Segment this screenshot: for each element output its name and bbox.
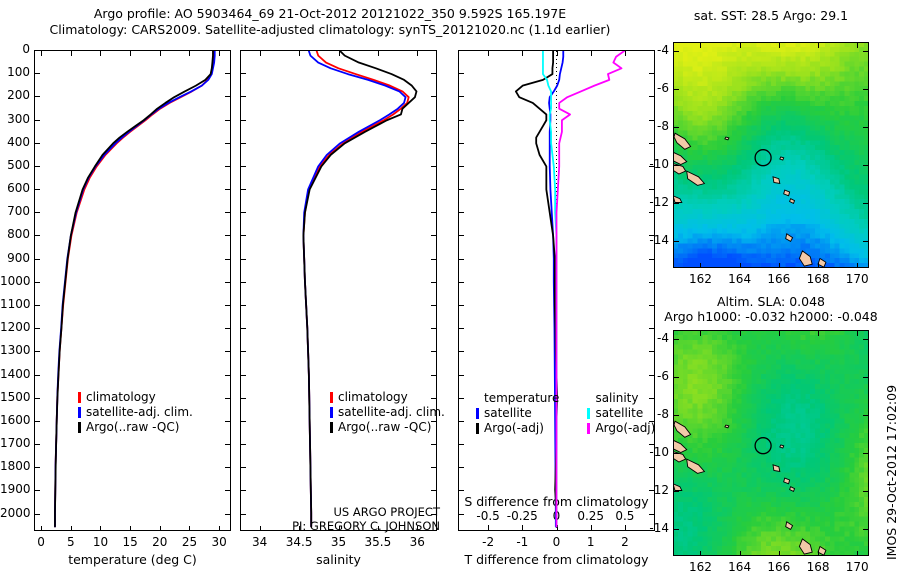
map-lat-label: -4 [631, 331, 669, 345]
map-title-line-1: Altim. SLA: 0.048 [633, 294, 900, 309]
x-axis-label: temperature (deg C) [34, 552, 231, 567]
legend-swatch [587, 423, 590, 434]
title-line-2: Climatology: CARS2009. Satellite-adjuste… [50, 22, 611, 37]
map-lat-label: -6 [631, 369, 669, 383]
depth-tick-label: 300 [0, 112, 30, 126]
map-lon-tick-top [779, 331, 780, 336]
depth-tick-label: 1200 [0, 320, 30, 334]
map-lon-tick [779, 551, 780, 556]
legend-salinity: climatologysatellite-adj. clim.Argo(..ra… [330, 390, 445, 435]
legend-swatch [330, 407, 333, 418]
map-lat-tick-right [863, 339, 868, 340]
legend-swatch [476, 423, 479, 434]
map-lat-tick-right [863, 491, 868, 492]
map-lon-tick [740, 263, 741, 268]
map-lon-tick-top [857, 43, 858, 48]
map-title-line-2: Argo h1000: -0.032 h2000: -0.048 [633, 309, 900, 324]
map-lon-tick-top [857, 331, 858, 336]
depth-tick-label: 1900 [0, 482, 30, 496]
map-lat-tick [674, 453, 679, 454]
title-line-1: Argo profile: AO 5903464_69 21-Oct-2012 … [94, 6, 566, 21]
legend-swatch [78, 392, 81, 403]
legend-label: Argo(-adj) [484, 421, 544, 436]
depth-tick-label: 200 [0, 88, 30, 102]
depth-tick-label: 700 [0, 204, 30, 218]
depth-tick-label: 100 [0, 65, 30, 79]
legend-swatch [476, 408, 479, 419]
map-title-sla-map: Altim. SLA: 0.048Argo h1000: -0.032 h200… [633, 294, 900, 324]
t-tick-label: 2 [600, 535, 650, 549]
map-lon-tick [700, 551, 701, 556]
depth-tick-label: 1600 [0, 413, 30, 427]
map-lon-tick-top [700, 43, 701, 48]
map-lon-label: 170 [832, 272, 882, 286]
curves-0 [35, 51, 230, 530]
credit-block: US ARGO PROJECT PI: GREGORY C. JOHNSON [140, 505, 440, 533]
map-lon-tick [779, 263, 780, 268]
depth-tick-label: 1400 [0, 367, 30, 381]
legend-swatch [330, 392, 333, 403]
map-lon-tick [818, 551, 819, 556]
depth-tick-label: 500 [0, 158, 30, 172]
legend-row: satellite [476, 406, 559, 421]
map-lat-label: -12 [631, 483, 669, 497]
map-lat-tick [674, 529, 679, 530]
map-lat-tick-right [863, 51, 868, 52]
map-lon-tick [857, 263, 858, 268]
map-lat-label: -8 [631, 119, 669, 133]
map-lat-tick-right [863, 127, 868, 128]
legend-column-title: salinity [587, 391, 655, 406]
legend-row: Argo(..raw -QC) [78, 420, 193, 435]
legend-label: Argo(-adj) [595, 421, 655, 436]
legend-row: Argo(-adj) [476, 421, 559, 436]
map-lat-label: -14 [631, 521, 669, 535]
legend-label: climatology [338, 390, 408, 405]
legend-swatch [330, 422, 333, 433]
legend-label: Argo(..raw -QC) [86, 420, 179, 435]
map-lon-tick-top [700, 331, 701, 336]
map-lon-tick [857, 551, 858, 556]
legend-row: satellite-adj. clim. [330, 405, 445, 420]
map-lat-tick-right [863, 415, 868, 416]
map-lat-label: -10 [631, 445, 669, 459]
t-axis-label: T difference from climatology [458, 552, 655, 567]
x-tick-label: 36 [392, 535, 442, 549]
curves-difference [459, 51, 654, 530]
legend-label: climatology [86, 390, 156, 405]
map-lon-tick [740, 551, 741, 556]
map-lon-tick-top [818, 43, 819, 48]
map-lat-label: -6 [631, 81, 669, 95]
legend-temperature: climatologysatellite-adj. clim.Argo(..ra… [78, 390, 193, 435]
map-lon-tick [700, 263, 701, 268]
map-lat-tick [674, 127, 679, 128]
legend-difference: temperaturesatelliteArgo(-adj)salinitysa… [476, 391, 655, 436]
depth-tick-label: 400 [0, 135, 30, 149]
map-lat-tick [674, 203, 679, 204]
map-lat-tick-right [863, 377, 868, 378]
depth-tick-label: 1800 [0, 459, 30, 473]
map-lon-tick-top [818, 331, 819, 336]
legend-swatch [78, 422, 81, 433]
depth-tick-label: 1500 [0, 390, 30, 404]
map-frame-sla-map [673, 330, 869, 556]
map-lat-label: -12 [631, 195, 669, 209]
legend-label: Argo(..raw -QC) [338, 420, 431, 435]
depth-tick-label: 800 [0, 227, 30, 241]
map-lat-tick [674, 491, 679, 492]
map-lat-tick [674, 415, 679, 416]
legend-row: Argo(-adj) [587, 421, 655, 436]
map-lat-label: -14 [631, 233, 669, 247]
depth-tick-label: 2000 [0, 506, 30, 520]
x-axis-label: salinity [240, 552, 437, 567]
legend-columns: temperaturesatelliteArgo(-adj)salinitysa… [476, 391, 655, 436]
map-lon-tick-top [779, 43, 780, 48]
map-frame-sst-map [673, 42, 869, 268]
imos-timestamp: IMOS 29-Oct-2012 17:02:09 [884, 385, 899, 560]
map-lat-tick-right [863, 165, 868, 166]
map-lon-tick [818, 263, 819, 268]
map-lat-tick-right [863, 529, 868, 530]
map-lon-tick-top [740, 331, 741, 336]
depth-tick-label: 1700 [0, 436, 30, 450]
legend-label: satellite-adj. clim. [86, 405, 193, 420]
map-lat-tick [674, 165, 679, 166]
map-lat-tick-right [863, 241, 868, 242]
credit-line-1: US ARGO PROJECT [140, 505, 440, 519]
credit-line-2: PI: GREGORY C. JOHNSON [140, 519, 440, 533]
map-lat-label: -10 [631, 157, 669, 171]
map-lon-tick-top [740, 43, 741, 48]
depth-tick-label: 900 [0, 251, 30, 265]
map-lat-tick [674, 339, 679, 340]
legend-row: satellite-adj. clim. [78, 405, 193, 420]
map-lat-tick-right [863, 89, 868, 90]
legend-row: climatology [330, 390, 445, 405]
map-lat-tick [674, 241, 679, 242]
map-lat-tick [674, 89, 679, 90]
legend-column-title: temperature [476, 391, 559, 406]
curves-1 [241, 51, 436, 530]
map-title-sst-map: sat. SST: 28.5 Argo: 29.1 [633, 8, 900, 23]
map-lat-label: -4 [631, 43, 669, 57]
map-lat-tick-right [863, 203, 868, 204]
map-lat-label: -8 [631, 407, 669, 421]
legend-swatch [78, 407, 81, 418]
figure-title: Argo profile: AO 5903464_69 21-Oct-2012 … [0, 6, 660, 38]
depth-tick-label: 600 [0, 181, 30, 195]
map-lat-tick [674, 377, 679, 378]
map-lat-tick-right [863, 453, 868, 454]
legend-row: Argo(..raw -QC) [330, 420, 445, 435]
legend-column-left: temperaturesatelliteArgo(-adj) [476, 391, 559, 436]
legend-row: climatology [78, 390, 193, 405]
depth-tick-label: 1000 [0, 274, 30, 288]
depth-tick-label: 1100 [0, 297, 30, 311]
map-lat-tick [674, 51, 679, 52]
legend-label: satellite [484, 406, 532, 421]
legend-swatch [587, 408, 590, 419]
legend-label: satellite-adj. clim. [338, 405, 445, 420]
map-lon-label: 170 [832, 560, 882, 574]
depth-tick-label: 1300 [0, 343, 30, 357]
depth-tick-label: 0 [0, 42, 30, 56]
